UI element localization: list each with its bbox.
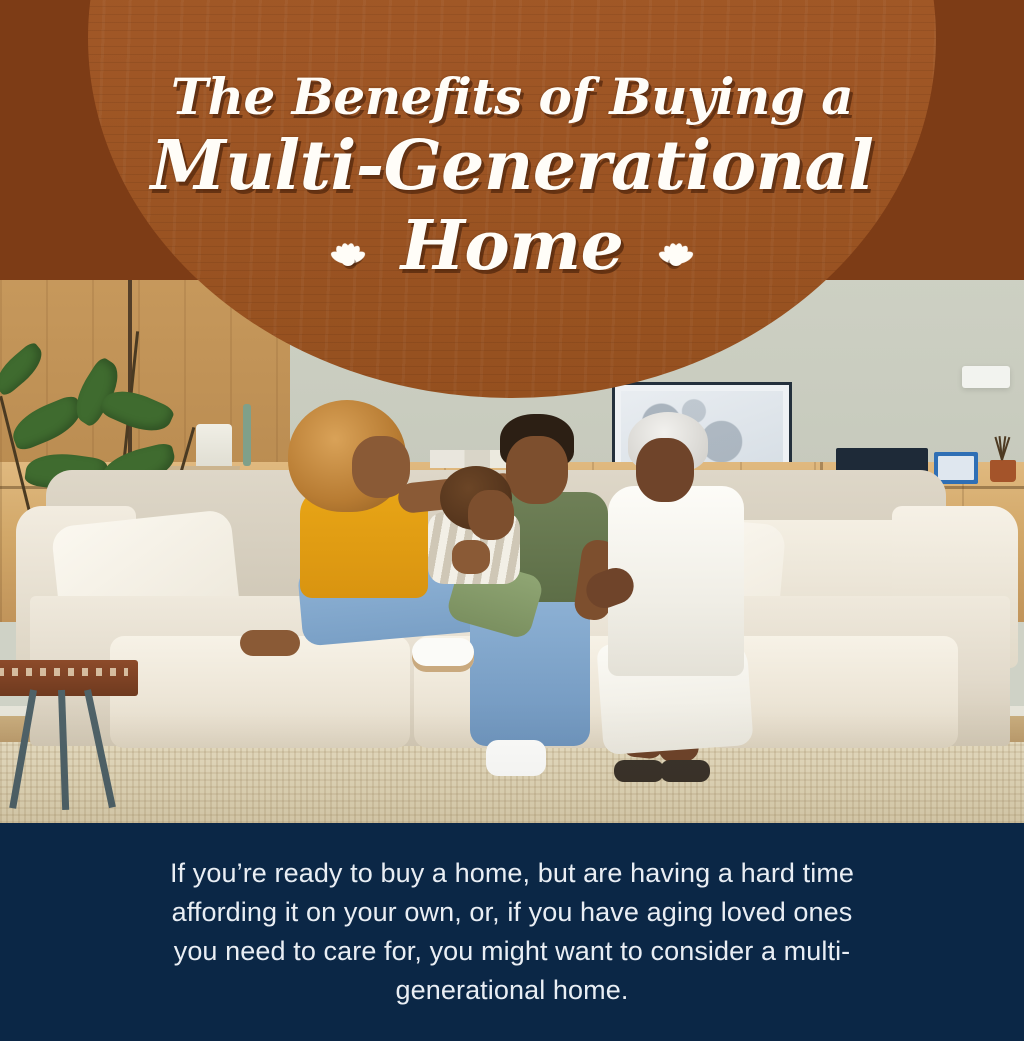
footer-band: If you’re ready to buy a home, but are h… bbox=[0, 823, 1024, 1041]
sandal bbox=[660, 760, 710, 782]
sandal bbox=[614, 760, 664, 782]
side-table bbox=[0, 660, 138, 696]
ceiling-light bbox=[962, 366, 1010, 388]
sneaker bbox=[412, 638, 474, 672]
face bbox=[636, 438, 694, 502]
plant-leaf bbox=[6, 393, 87, 452]
face bbox=[506, 436, 568, 504]
sneaker bbox=[486, 740, 546, 776]
infographic-root: The Benefits of Buying a Multi-Generatio… bbox=[0, 0, 1024, 1041]
twig-vase bbox=[986, 430, 1020, 482]
hero-photo bbox=[0, 0, 1024, 823]
plant-leaf bbox=[0, 340, 50, 397]
pot bbox=[990, 460, 1016, 482]
face bbox=[468, 490, 514, 540]
footer-body-text: If you’re ready to buy a home, but are h… bbox=[162, 854, 862, 1011]
hand bbox=[452, 540, 490, 574]
face bbox=[352, 436, 410, 498]
candle bbox=[243, 404, 251, 466]
bare-foot bbox=[240, 630, 300, 656]
